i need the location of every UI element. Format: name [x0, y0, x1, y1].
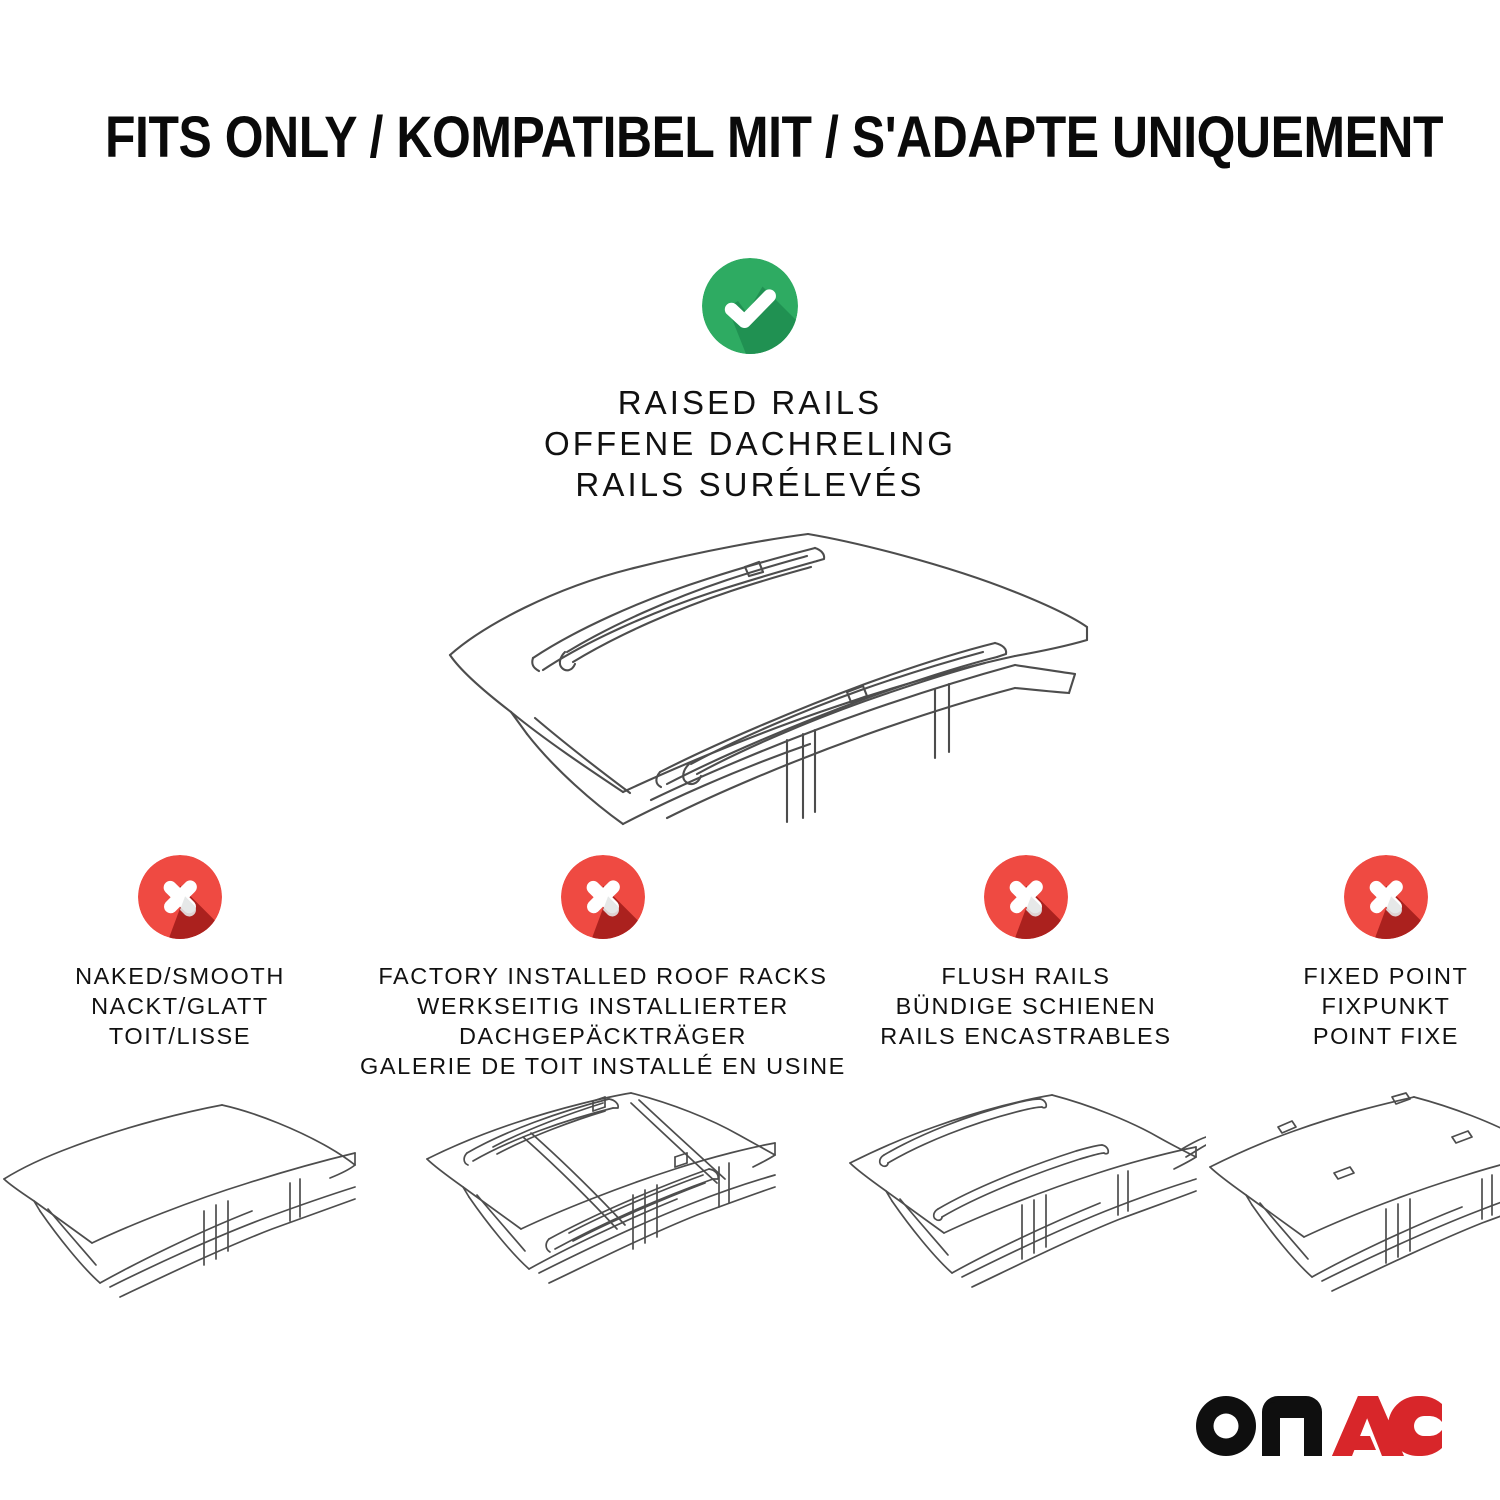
compatible-caption-line: RAISED RAILS	[544, 382, 956, 423]
x-circle-icon	[1344, 855, 1428, 939]
compatible-caption-line: OFFENE DACHRELING	[544, 423, 956, 464]
incompatible-caption-line: TOIT/LISSE	[75, 1021, 285, 1051]
incompatible-section: NAKED/SMOOTH NACKT/GLATT TOIT/LISSE	[0, 855, 1500, 1321]
page-title: FITS ONLY / KOMPATIBEL MIT / S'ADAPTE UN…	[105, 104, 1395, 172]
check-circle-icon	[702, 258, 798, 354]
incompatible-caption-line: RAILS ENCASTRABLES	[880, 1021, 1171, 1051]
incompatible-item-factory-roof-racks: FACTORY INSTALLED ROOF RACKS WERKSEITIG …	[360, 855, 846, 1321]
incompatible-caption-line: FACTORY INSTALLED ROOF RACKS	[360, 961, 846, 991]
incompatible-caption-line: BÜNDIGE SCHIENEN	[880, 991, 1171, 1021]
x-circle-icon	[984, 855, 1068, 939]
car-roof-factory-roof-racks-diagram	[423, 1091, 783, 1321]
car-roof-naked-smooth-diagram	[0, 1091, 360, 1321]
incompatible-caption-line: DACHGEPÄCKTRÄGER	[360, 1021, 846, 1051]
incompatible-caption-line: FIXPUNKT	[1303, 991, 1468, 1021]
car-roof-fixed-point-diagram	[1206, 1091, 1500, 1321]
compatible-caption: RAISED RAILS OFFENE DACHRELING RAILS SUR…	[544, 382, 956, 505]
compatible-caption-line: RAILS SURÉLEVÉS	[544, 464, 956, 505]
compatible-section: RAISED RAILS OFFENE DACHRELING RAILS SUR…	[0, 258, 1500, 505]
incompatible-caption-line: GALERIE DE TOIT INSTALLÉ EN USINE	[360, 1051, 846, 1081]
car-roof-raised-rails-diagram	[415, 512, 1105, 842]
incompatible-caption-line: POINT FIXE	[1303, 1021, 1468, 1051]
incompatible-caption-line: WERKSEITIG INSTALLIERTER	[360, 991, 846, 1021]
incompatible-item-naked-smooth: NAKED/SMOOTH NACKT/GLATT TOIT/LISSE	[0, 855, 360, 1321]
incompatible-item-fixed-point: FIXED POINT FIXPUNKT POINT FIXE	[1206, 855, 1500, 1321]
incompatible-caption: FACTORY INSTALLED ROOF RACKS WERKSEITIG …	[360, 961, 846, 1081]
x-circle-icon	[138, 855, 222, 939]
logo-letter-o	[1196, 1396, 1256, 1456]
logo-letter-m	[1262, 1396, 1322, 1456]
x-circle-icon	[561, 855, 645, 939]
incompatible-caption: FIXED POINT FIXPUNKT POINT FIXE	[1303, 961, 1468, 1051]
omac-logo	[1192, 1388, 1442, 1458]
incompatible-caption-line: NACKT/GLATT	[75, 991, 285, 1021]
incompatible-caption-line: FLUSH RAILS	[880, 961, 1171, 991]
car-roof-flush-rails-diagram	[846, 1091, 1206, 1321]
incompatible-caption: NAKED/SMOOTH NACKT/GLATT TOIT/LISSE	[75, 961, 285, 1051]
incompatible-caption-line: FIXED POINT	[1303, 961, 1468, 991]
incompatible-item-flush-rails: FLUSH RAILS BÜNDIGE SCHIENEN RAILS ENCAS…	[846, 855, 1206, 1321]
incompatible-caption: FLUSH RAILS BÜNDIGE SCHIENEN RAILS ENCAS…	[880, 961, 1171, 1051]
incompatible-caption-line: NAKED/SMOOTH	[75, 961, 285, 991]
